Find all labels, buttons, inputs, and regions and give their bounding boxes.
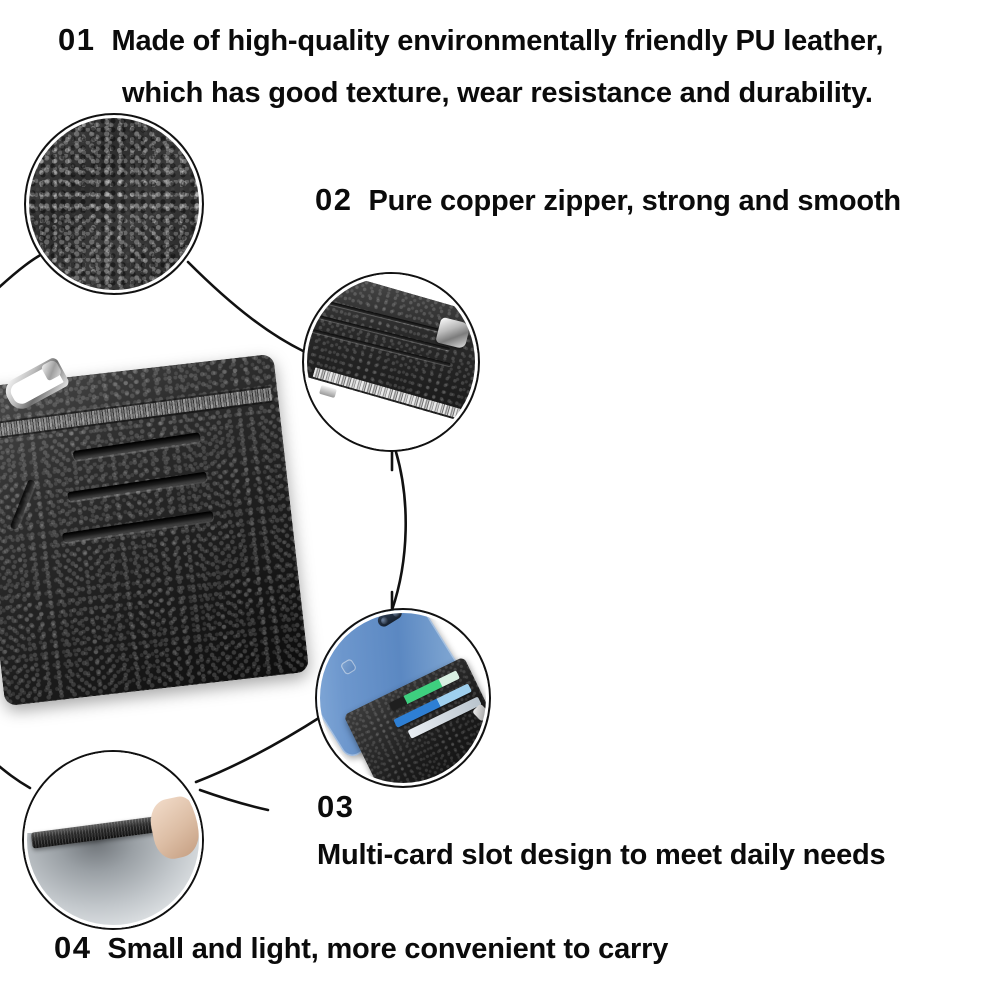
feature-line-04-1: Small and light, more convenient to carr… bbox=[107, 933, 668, 965]
card-slot bbox=[73, 432, 201, 460]
feature-line-01-1: Made of high-quality environmentally fri… bbox=[111, 25, 883, 57]
feature-text-03: 03Multi-card slot design to meet daily n… bbox=[317, 788, 886, 874]
feature-text-04: 04Small and light, more convenient to ca… bbox=[54, 928, 668, 969]
zipper-stop bbox=[319, 385, 337, 398]
feature-number-03: 03 bbox=[317, 788, 886, 826]
feature-number-01: 01 bbox=[58, 14, 95, 66]
feature-text-01: 01Made of high-quality environmentally f… bbox=[58, 14, 883, 119]
phone-flash-icon bbox=[401, 608, 408, 610]
phone-fingerprint-sensor bbox=[340, 658, 358, 676]
main-product-photo bbox=[0, 336, 311, 720]
card-slot bbox=[314, 298, 449, 334]
zipper-scene bbox=[304, 274, 478, 450]
feature-number-02: 02 bbox=[315, 180, 352, 220]
phone-and-wallet-scene bbox=[317, 610, 489, 786]
card-slot bbox=[62, 511, 214, 542]
wallet-leather-body bbox=[0, 354, 309, 707]
callout-card-slots bbox=[315, 608, 491, 788]
feature-line-02-1: Pure copper zipper, strong and smooth bbox=[368, 185, 900, 217]
arc-circle2-to-circle3 bbox=[392, 452, 406, 610]
feature-number-04: 04 bbox=[54, 928, 91, 968]
callout-thinness bbox=[22, 750, 204, 930]
arc-circle3-to-circle4 bbox=[196, 716, 322, 782]
callout-zipper bbox=[302, 272, 480, 452]
infographic-canvas: 01Made of high-quality environmentally f… bbox=[0, 0, 1000, 1000]
feature-line-03-1: Multi-card slot design to meet daily nee… bbox=[317, 839, 886, 871]
arc-circle4-to-right bbox=[200, 790, 268, 810]
card-slot bbox=[67, 472, 207, 502]
feature-text-02: 02Pure copper zipper, strong and smooth bbox=[315, 180, 901, 221]
leather-texture-macro bbox=[26, 115, 202, 293]
thin-wallet-scene bbox=[24, 752, 202, 928]
card-slot-edge bbox=[10, 479, 36, 530]
callout-leather-texture bbox=[24, 113, 204, 295]
phone-camera-icon bbox=[376, 608, 404, 629]
feature-line-01-2: which has good texture, wear resistance … bbox=[122, 67, 883, 119]
